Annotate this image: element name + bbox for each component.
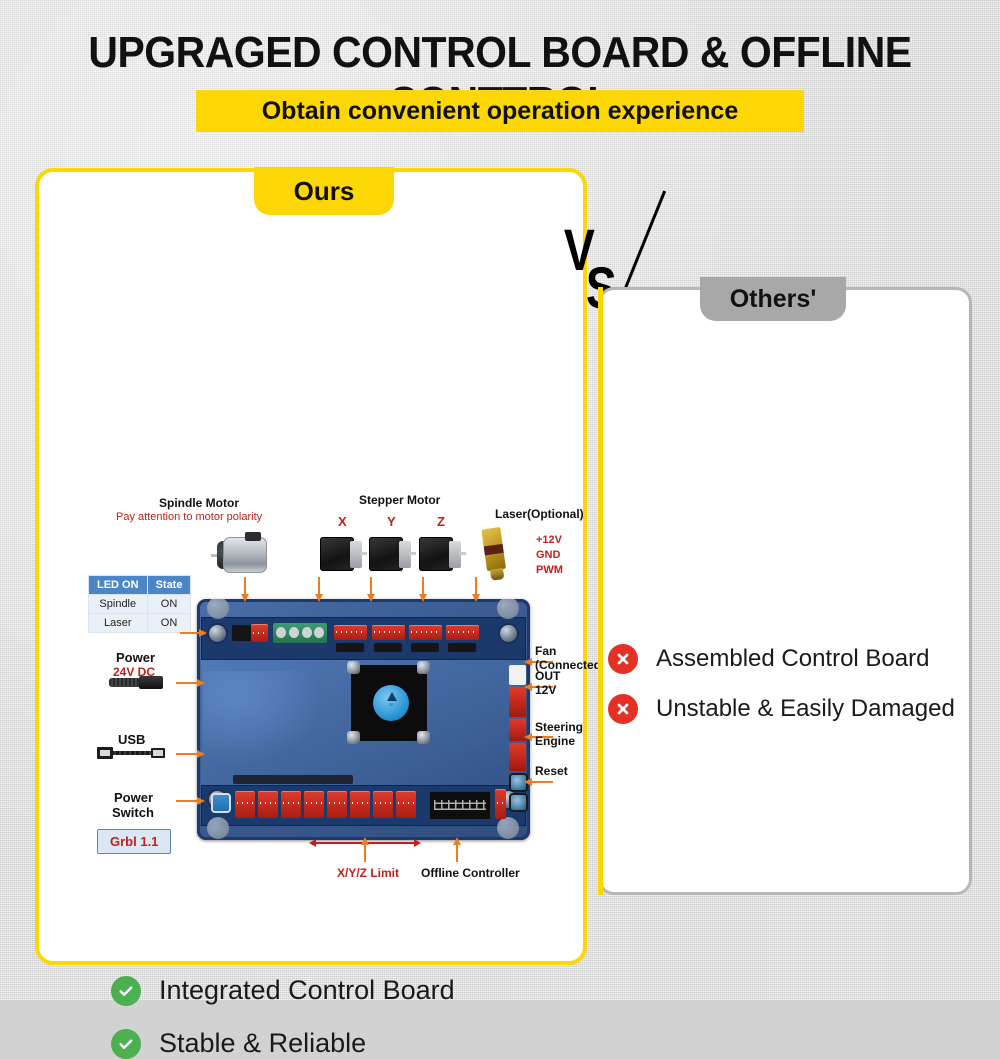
arrow-z-to-board	[422, 577, 424, 595]
arrow-offline-label	[456, 844, 458, 862]
out-12v-label: OUT 12V	[535, 669, 583, 697]
led-state-table: LED ON State Spindle ON Laser ON	[88, 575, 191, 633]
spindle-motor-image	[215, 535, 277, 575]
power-switch-label-1: Power	[114, 790, 153, 805]
ours-bullet-1-text: Stable & Reliable	[159, 1028, 366, 1059]
check-icon	[111, 976, 141, 1006]
steering-engine-label: Steering Engine	[535, 720, 583, 748]
laser-pin-12v: +12V	[536, 534, 562, 546]
ours-tab: Ours	[254, 167, 394, 215]
laser-pin-pwm: PWM	[536, 564, 563, 576]
usb-label: USB	[118, 732, 145, 747]
board-fan: CE	[351, 665, 427, 741]
led-row-0-state: ON	[147, 595, 191, 614]
others-bullet-0: Assembled Control Board	[608, 644, 929, 674]
offline-controller-label: Offline Controller	[421, 866, 520, 880]
power-label: Power	[116, 650, 155, 665]
arrow-reset-label	[531, 781, 553, 783]
arrow-led-to-board	[180, 632, 200, 634]
others-bullet-1: Unstable & Easily Damaged	[608, 694, 955, 724]
spindle-motor-label: Spindle Motor	[159, 496, 239, 510]
power-switch-label-2: Switch	[112, 805, 154, 820]
ours-bullet-0: Integrated Control Board	[111, 975, 455, 1006]
arrow-laser-to-board	[475, 577, 477, 595]
usb-cable-image	[97, 746, 169, 760]
others-bullet-0-text: Assembled Control Board	[656, 645, 929, 673]
table-row: Laser ON	[89, 614, 191, 633]
spindle-polarity-note: Pay attention to motor polarity	[116, 511, 262, 523]
stepper-motor-z-image	[419, 535, 463, 575]
laser-pin-gnd: GND	[536, 549, 560, 561]
arrow-usb-to-board	[176, 753, 198, 755]
laser-module-image	[479, 527, 510, 584]
led-row-1-state: ON	[147, 614, 191, 633]
grbl-version-badge: Grbl 1.1	[97, 829, 171, 854]
led-row-0-name: Spindle	[89, 595, 148, 614]
check-icon	[111, 1029, 141, 1059]
axis-z-label: Z	[437, 514, 445, 529]
power-spec-label: 24V DC	[113, 665, 155, 679]
x-icon	[608, 694, 638, 724]
led-row-1-name: Laser	[89, 614, 148, 633]
x-icon	[608, 644, 638, 674]
table-row: Spindle ON	[89, 595, 191, 614]
others-tab: Others'	[700, 277, 846, 321]
reset-label: Reset	[535, 764, 568, 778]
stepper-motor-label: Stepper Motor	[359, 493, 440, 507]
subtitle-banner: Obtain convenient operation experience	[196, 90, 804, 132]
our-control-board-image: CE	[197, 599, 530, 840]
arrow-switch-to-board	[176, 800, 198, 802]
arrow-y-to-board	[370, 577, 372, 595]
subtitle-text: Obtain convenient operation experience	[262, 97, 739, 126]
led-table-header-led: LED ON	[89, 576, 148, 595]
arrow-spindle-to-board	[244, 577, 246, 595]
arrow-power-to-board	[176, 682, 198, 684]
axis-x-label: X	[338, 514, 347, 529]
arrow-limit-label	[364, 844, 366, 862]
stepper-motor-y-image	[369, 535, 413, 575]
ours-panel: CE	[35, 168, 587, 965]
xyz-limit-label: X/Y/Z Limit	[337, 866, 399, 880]
axis-y-label: Y	[387, 514, 396, 529]
laser-optional-label: Laser(Optional)	[495, 507, 584, 521]
ours-bullet-0-text: Integrated Control Board	[159, 975, 455, 1006]
fan-label: Fan (Connected)	[535, 644, 605, 672]
others-bullet-1-text: Unstable & Easily Damaged	[656, 695, 955, 723]
ours-bullet-1: Stable & Reliable	[111, 1028, 366, 1059]
arrow-x-to-board	[318, 577, 320, 595]
led-table-header-state: State	[147, 576, 191, 595]
others-panel: CronosMaker CRONOS 470	[598, 287, 972, 895]
stepper-motor-x-image	[320, 535, 364, 575]
